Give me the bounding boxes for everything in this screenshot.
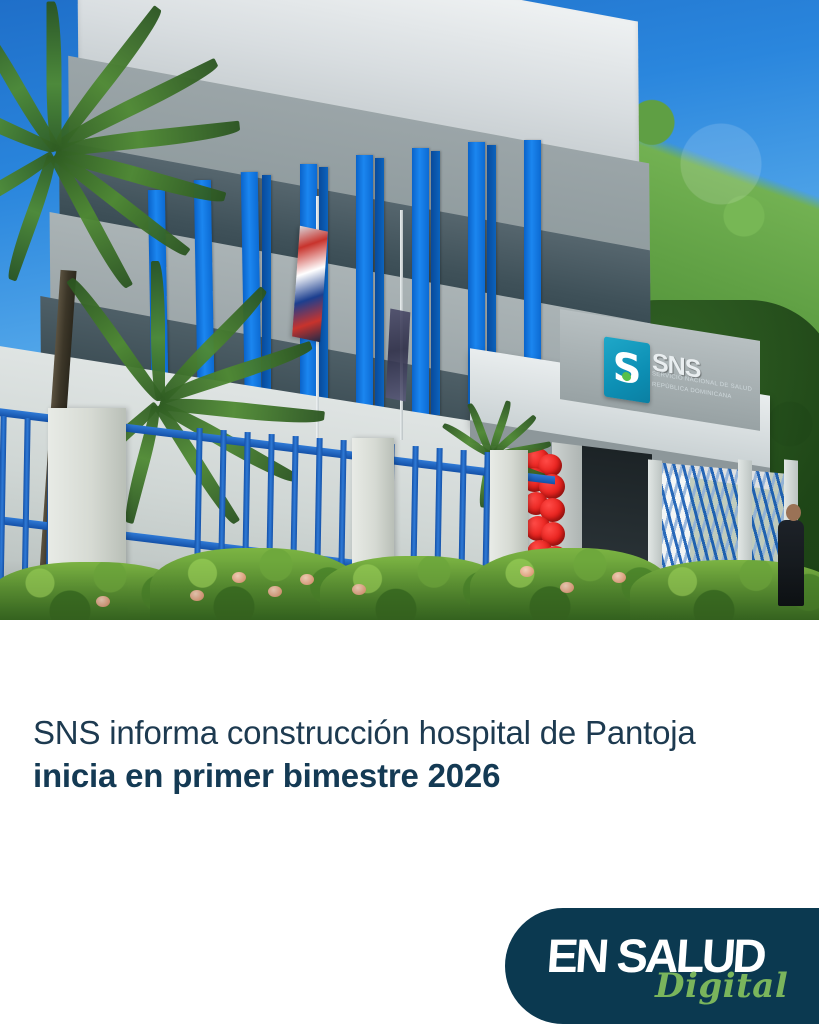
person-head <box>786 504 801 521</box>
facade-fin <box>524 140 541 380</box>
facade-fin-shadow <box>431 151 440 415</box>
headline-block: SNS informa construcción hospital de Pan… <box>33 712 813 798</box>
palm-frond <box>151 261 165 401</box>
headline-line-2: inicia en primer bimestre 2026 <box>33 754 813 798</box>
headline-line-1: SNS informa construcción hospital de Pan… <box>33 712 813 754</box>
photo-bottom-gradient <box>0 560 819 620</box>
en-salud-digital-logo[interactable]: EN SALUD Digital <box>505 908 819 1024</box>
facade-fin <box>412 148 429 418</box>
sns-logo-s-icon: S <box>612 348 642 393</box>
hero-photo: S SNS SERVICIO NACIONAL DE SALUD REPÚBLI… <box>0 0 819 620</box>
logo-word-en: EN <box>545 929 608 982</box>
logo-tagline: Digital <box>655 966 788 1006</box>
